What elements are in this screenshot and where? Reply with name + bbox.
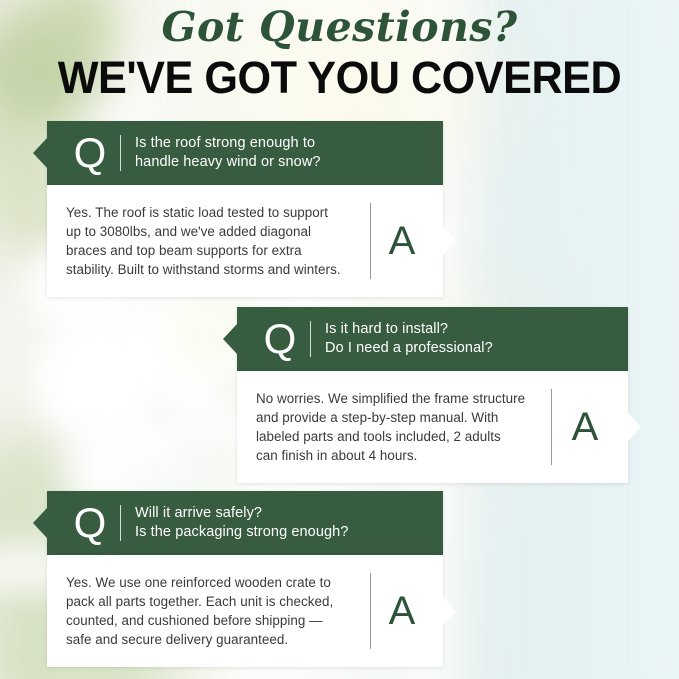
question-bar[interactable]: Q Is it hard to install? Do I need a pro…: [237, 307, 628, 371]
faq-item: Q Will it arrive safely? Is the packagin…: [47, 491, 443, 667]
question-text: Is the roof strong enough to handle heav…: [135, 134, 321, 173]
question-line: Is it hard to install?: [325, 320, 493, 339]
answer-line: stability. Built to withstand storms and…: [66, 260, 362, 279]
question-text: Is it hard to install? Do I need a profe…: [325, 320, 493, 359]
question-line: Is the packaging strong enough?: [135, 523, 349, 542]
answer-letter: A: [371, 591, 433, 631]
answer-line: Yes. The roof is static load tested to s…: [66, 203, 362, 222]
answer-line: safe and secure delivery guaranteed.: [66, 630, 362, 649]
answer-line: Yes. We use one reinforced wooden crate …: [66, 573, 362, 592]
question-letter: Q: [256, 318, 304, 360]
answer-line: labeled parts and tools included, 2 adul…: [256, 427, 543, 446]
question-line: Will it arrive safely?: [135, 504, 349, 523]
answer-line: up to 3080lbs, and we've added diagonal: [66, 222, 362, 241]
answer-text: No worries. We simplified the frame stru…: [256, 389, 543, 465]
question-divider: [120, 135, 121, 171]
faq-infographic: Got Questions? WE'VE GOT YOU COVERED Q I…: [0, 0, 679, 679]
question-bar[interactable]: Q Is the roof strong enough to handle he…: [47, 121, 443, 185]
answer-letter: A: [371, 221, 433, 261]
answer-text: Yes. The roof is static load tested to s…: [66, 203, 362, 279]
answer-line: can finish in about 4 hours.: [256, 446, 543, 465]
heading-block: Got Questions? WE'VE GOT YOU COVERED: [0, 0, 679, 100]
answer-card: Yes. The roof is static load tested to s…: [47, 185, 443, 297]
question-divider: [120, 505, 121, 541]
answer-line: and provide a step-by-step manual. With: [256, 408, 543, 427]
answer-line: pack all parts together. Each unit is ch…: [66, 592, 362, 611]
answer-line: braces and top beam supports for extra: [66, 241, 362, 260]
question-letter: Q: [66, 502, 114, 544]
question-text: Will it arrive safely? Is the packaging …: [135, 504, 349, 543]
question-letter: Q: [66, 132, 114, 174]
faq-item: Q Is it hard to install? Do I need a pro…: [237, 307, 628, 483]
page-title: WE'VE GOT YOU COVERED: [14, 55, 666, 100]
answer-text: Yes. We use one reinforced wooden crate …: [66, 573, 362, 649]
script-title: Got Questions?: [0, 7, 679, 48]
answer-line: No worries. We simplified the frame stru…: [256, 389, 543, 408]
question-divider: [310, 321, 311, 357]
answer-card: No worries. We simplified the frame stru…: [237, 371, 628, 483]
question-line: Do I need a professional?: [325, 339, 493, 358]
answer-card: Yes. We use one reinforced wooden crate …: [47, 555, 443, 667]
question-bar[interactable]: Q Will it arrive safely? Is the packagin…: [47, 491, 443, 555]
answer-letter: A: [552, 407, 618, 447]
faq-item: Q Is the roof strong enough to handle he…: [47, 121, 443, 297]
answer-line: counted, and cushioned before shipping —: [66, 611, 362, 630]
question-line: Is the roof strong enough to: [135, 134, 321, 153]
question-line: handle heavy wind or snow?: [135, 153, 321, 172]
